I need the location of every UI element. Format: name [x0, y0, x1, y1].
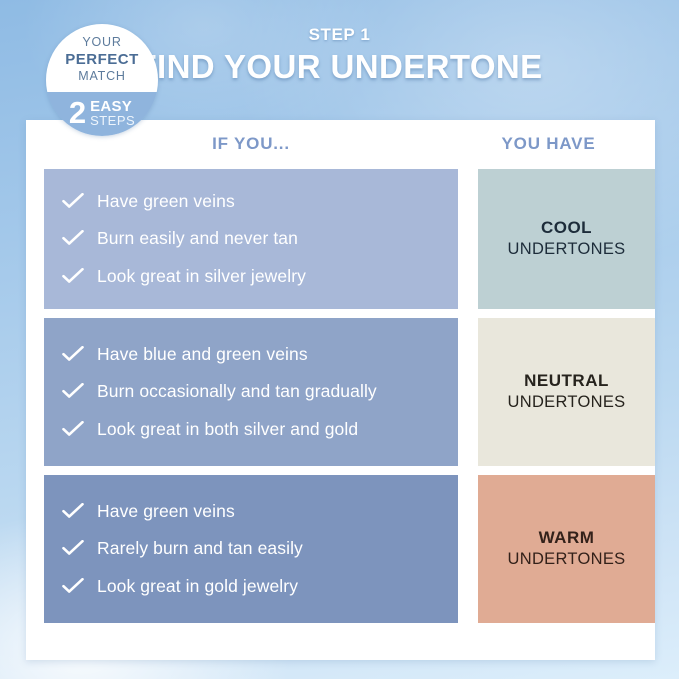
traits-cell: Have blue and green veins Burn occasiona… [44, 318, 458, 466]
badge-line-perfect: PERFECT [65, 51, 139, 69]
undertone-subtitle: UNDERTONES [508, 549, 626, 570]
badge-line-your: YOUR [82, 35, 121, 51]
list-item: Rarely burn and tan easily [62, 537, 442, 560]
undertone-swatch-warm: WARM UNDERTONES [478, 475, 655, 623]
badge-top-section: YOUR PERFECT MATCH [46, 24, 158, 92]
trait-text: Look great in both silver and gold [97, 418, 358, 441]
trait-text: Look great in gold jewelry [97, 575, 298, 598]
check-icon [62, 421, 84, 437]
undertone-rows: Have green veins Burn easily and never t… [44, 169, 655, 623]
traits-cell: Have green veins Rarely burn and tan eas… [44, 475, 458, 623]
undertone-name: NEUTRAL [524, 370, 609, 392]
badge-step-number: 2 [69, 99, 86, 128]
trait-text: Look great in silver jewelry [97, 265, 306, 288]
table-row: Have green veins Burn easily and never t… [44, 169, 655, 309]
list-item: Have green veins [62, 500, 442, 523]
traits-cell: Have green veins Burn easily and never t… [44, 169, 458, 309]
badge-line-match: MATCH [78, 69, 126, 85]
undertone-subtitle: UNDERTONES [508, 239, 626, 260]
trait-text: Burn easily and never tan [97, 227, 298, 250]
check-icon [62, 503, 84, 519]
trait-text: Have blue and green veins [97, 343, 308, 366]
list-item: Look great in both silver and gold [62, 418, 442, 441]
list-item: Look great in gold jewelry [62, 575, 442, 598]
list-item: Have blue and green veins [62, 343, 442, 366]
badge-steps-text: EASY STEPS [90, 99, 135, 127]
trait-text: Burn occasionally and tan gradually [97, 380, 377, 403]
check-icon [62, 346, 84, 362]
list-item: Have green veins [62, 190, 442, 213]
column-headers: IF YOU... YOU HAVE [26, 134, 655, 168]
badge-bottom-section: 2 EASY STEPS [46, 92, 158, 136]
list-item: Look great in silver jewelry [62, 265, 442, 288]
trait-text: Rarely burn and tan easily [97, 537, 303, 560]
undertone-name: WARM [539, 527, 595, 549]
perfect-match-badge: YOUR PERFECT MATCH 2 EASY STEPS [46, 24, 158, 136]
undertone-swatch-cool: COOL UNDERTONES [478, 169, 655, 309]
badge-label-easy: EASY [90, 99, 132, 114]
check-icon [62, 230, 84, 246]
table-row: Have green veins Rarely burn and tan eas… [44, 475, 655, 623]
list-item: Burn occasionally and tan gradually [62, 380, 442, 403]
list-item: Burn easily and never tan [62, 227, 442, 250]
column-header-you-have: YOU HAVE [460, 134, 637, 154]
check-icon [62, 540, 84, 556]
undertone-swatch-neutral: NEUTRAL UNDERTONES [478, 318, 655, 466]
undertone-name: COOL [541, 217, 592, 239]
table-row: Have blue and green veins Burn occasiona… [44, 318, 655, 466]
trait-text: Have green veins [97, 500, 235, 523]
undertone-card: IF YOU... YOU HAVE Have green veins Burn… [26, 120, 655, 660]
badge-label-steps: STEPS [90, 114, 135, 127]
check-icon [62, 578, 84, 594]
column-header-if-you: IF YOU... [44, 134, 458, 154]
check-icon [62, 383, 84, 399]
undertone-subtitle: UNDERTONES [508, 392, 626, 413]
check-icon [62, 193, 84, 209]
check-icon [62, 268, 84, 284]
trait-text: Have green veins [97, 190, 235, 213]
